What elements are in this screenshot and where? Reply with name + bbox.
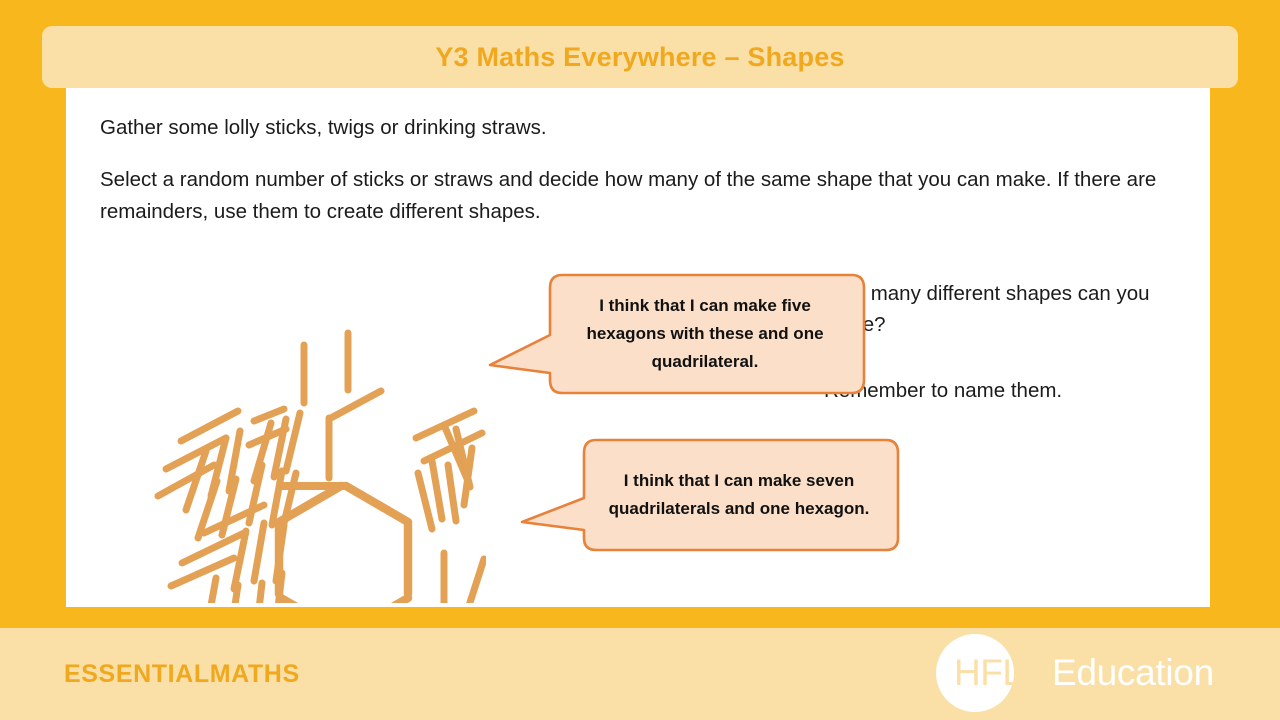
hexagon-shape bbox=[279, 486, 408, 603]
hfl-logo-word: Education bbox=[1052, 652, 1214, 694]
footer-brand: ESSENTIALMATHS bbox=[64, 660, 300, 689]
title-banner: Y3 Maths Everywhere – Shapes bbox=[42, 26, 1238, 88]
content-card: Gather some lolly sticks, twigs or drink… bbox=[66, 88, 1210, 607]
loose-sticks-right bbox=[416, 411, 484, 603]
intro-line-2: Select a random number of sticks or stra… bbox=[100, 164, 1175, 228]
right-column: How many different shapes can you make? … bbox=[824, 278, 1174, 406]
hfl-logo: HFL Education bbox=[936, 634, 1226, 714]
speech-bubble-first-text: I think that I can make five hexagons wi… bbox=[550, 275, 860, 393]
prompt-text: Remember to name them. bbox=[824, 375, 1174, 406]
intro-line-1: Gather some lolly sticks, twigs or drink… bbox=[100, 112, 1180, 144]
speech-bubble-second-text: I think that I can make seven quadrilate… bbox=[584, 440, 894, 550]
speech-bubble-first: I think that I can make five hexagons wi… bbox=[482, 275, 872, 405]
question-text: How many different shapes can you make? bbox=[824, 278, 1174, 340]
page-title: Y3 Maths Everywhere – Shapes bbox=[435, 42, 844, 73]
loose-sticks-top bbox=[304, 333, 381, 478]
speech-bubble-second: I think that I can make seven quadrilate… bbox=[512, 440, 912, 565]
loose-sticks-left bbox=[158, 409, 300, 603]
slide: Y3 Maths Everywhere – Shapes Gather some… bbox=[0, 0, 1280, 720]
hfl-logo-mark: HFL bbox=[954, 652, 1022, 694]
sticks-illustration bbox=[86, 233, 486, 603]
